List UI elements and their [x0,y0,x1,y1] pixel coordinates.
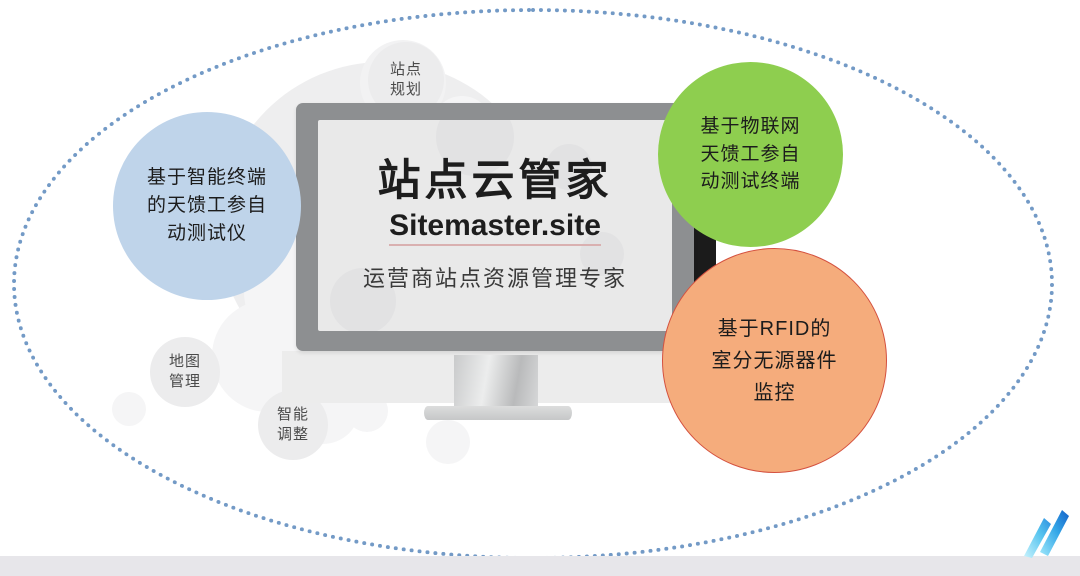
feature-green-line2: 天馈工参自 [700,141,800,169]
tag-map-management[interactable]: 地图 管理 [150,337,220,407]
feature-blue-text: 基于智能终端 的天馈工参自 动测试仪 [147,164,267,247]
feature-green-line3: 动测试终端 [700,168,800,196]
tag-map-management-line2: 管理 [169,372,201,392]
feature-blue-line3: 动测试仪 [147,220,267,248]
feature-blue-line1: 基于智能终端 [147,164,267,192]
feature-circle-iot-test-terminal[interactable]: 基于物联网 天馈工参自 动测试终端 [658,62,843,247]
feature-orange-text: 基于RFID的 室分无源器件 监控 [712,313,838,409]
bottom-bar [0,556,1080,576]
monitor-illustration: 站点云管家 Sitemaster.site 运营商站点资源管理专家 [296,103,716,453]
decor-bubble-6 [112,392,146,426]
page-subtitle-cn: 运营商站点资源管理专家 [363,266,627,292]
feature-orange-line3: 监控 [712,377,838,409]
monitor-stand-base [424,406,572,420]
screen-text-block: 站点云管家 Sitemaster.site 运营商站点资源管理专家 [363,158,627,292]
feature-orange-line1: 基于RFID的 [712,313,838,345]
page-title-en: Sitemaster.site [389,208,601,246]
page-title-cn: 站点云管家 [363,158,627,205]
feature-blue-line2: 的天馈工参自 [147,192,267,220]
brand-logo-icon [1010,500,1072,558]
feature-circle-smart-terminal-tester[interactable]: 基于智能终端 的天馈工参自 动测试仪 [113,112,301,300]
feature-green-line1: 基于物联网 [700,113,800,141]
feature-green-text: 基于物联网 天馈工参自 动测试终端 [700,113,800,196]
tag-map-management-line1: 地图 [169,352,201,372]
monitor-screen: 站点云管家 Sitemaster.site 运营商站点资源管理专家 [318,120,672,331]
tag-site-planning-line2: 规划 [390,80,422,100]
monitor-bezel: 站点云管家 Sitemaster.site 运营商站点资源管理专家 [296,103,694,351]
feature-circle-rfid-passive-monitor[interactable]: 基于RFID的 室分无源器件 监控 [662,248,887,473]
tag-site-planning-line1: 站点 [390,60,422,80]
feature-orange-line2: 室分无源器件 [712,345,838,377]
infographic-canvas: 站点 规划 地图 管理 智能 调整 站点云管家 Sitemaster.site … [0,0,1080,576]
